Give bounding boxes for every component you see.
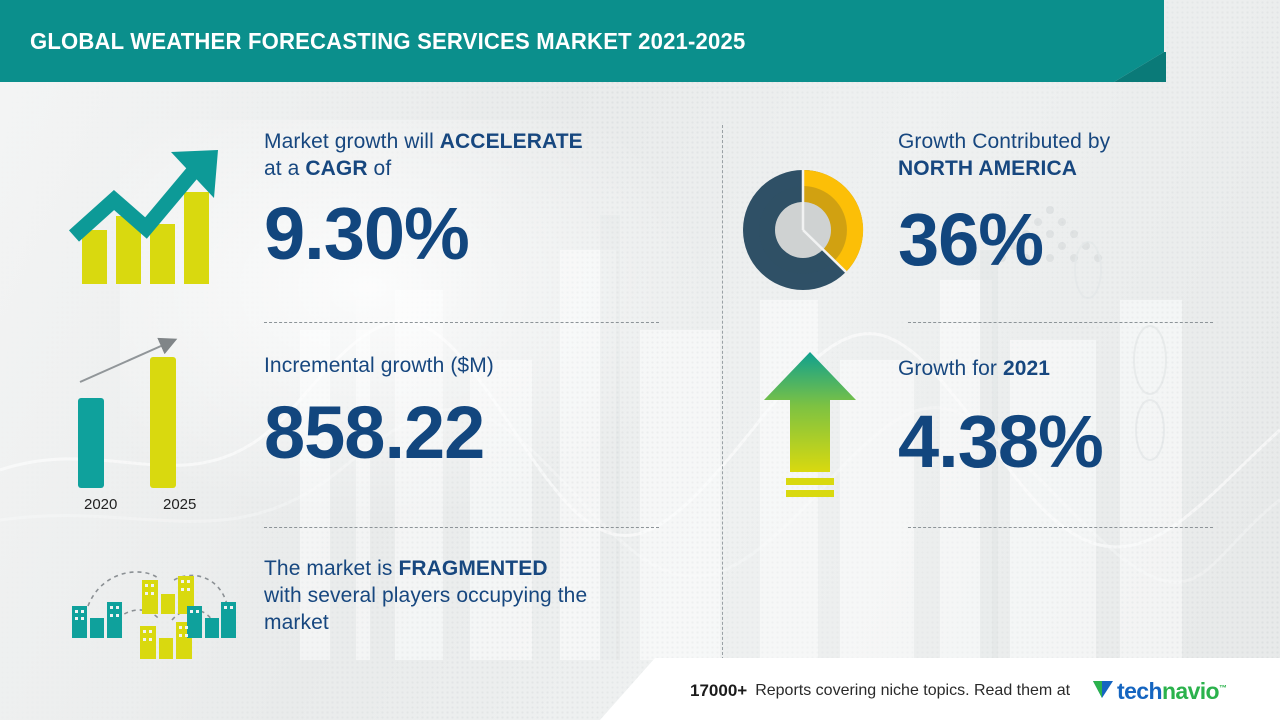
footer-report-count: 17000+ [690,681,747,701]
fragmentation-line1-pre: The market is [264,557,398,580]
cagr-label-line2-post: of [368,157,392,180]
cagr-label-line2-bold: CAGR [305,157,367,180]
cagr-block: Market growth will ACCELERATE at a CAGR … [264,128,664,272]
fragmentation-label: The market is FRAGMENTED with several pl… [264,555,684,636]
logo-trademark: ™ [1219,683,1226,692]
divider-left-1 [264,322,659,323]
yearly-growth-label-bold: 2021 [1003,357,1050,380]
page-title: GLOBAL WEATHER FORECASTING SERVICES MARK… [30,28,745,55]
yearly-growth-label: Growth for 2021 [898,355,1228,382]
cagr-label-line1-pre: Market growth will [264,130,440,153]
incremental-growth-label: Incremental growth ($M) [264,352,664,379]
region-label-pre: Growth Contributed by [898,130,1110,153]
logo-text-navio: navio [1162,678,1219,704]
infographic-page: GLOBAL WEATHER FORECASTING SERVICES MARK… [0,0,1280,720]
two-bar-growth-chart-icon [70,332,220,517]
footer-content: 17000+ Reports covering niche topics. Re… [690,674,1280,708]
logo-text-tech: tech [1117,678,1162,704]
donut-chart-icon [738,165,868,295]
fragmentation-block: The market is FRAGMENTED with several pl… [264,555,684,636]
technavio-wordmark: technavio™ [1117,678,1226,705]
incremental-growth-value: 858.22 [264,395,664,471]
divider-left-2 [264,527,659,528]
column-divider [722,125,723,660]
bar-label-2020: 2020 [84,496,117,513]
region-value: 36% [898,202,1228,278]
region-label: Growth Contributed by NORTH AMERICA [898,128,1228,182]
fragmentation-line3: market [264,611,329,634]
yearly-growth-label-pre: Growth for [898,357,1003,380]
cagr-label-line2-pre: at a [264,157,305,180]
footer-text: Reports covering niche topics. Read them… [755,682,1070,700]
divider-right-1 [908,322,1213,323]
divider-right-2 [908,527,1213,528]
technavio-mark-icon [1092,677,1114,706]
connected-city-buildings-icon [62,558,244,663]
region-label-bold: NORTH AMERICA [898,157,1077,180]
region-contribution-block: Growth Contributed by NORTH AMERICA 36% [898,128,1228,278]
fragmentation-line2: with several players occupying the [264,584,587,607]
cagr-value: 9.30% [264,196,664,272]
technavio-logo[interactable]: technavio™ [1092,677,1226,706]
incremental-growth-block: Incremental growth ($M) 858.22 [264,352,664,471]
bar-label-2025: 2025 [163,496,196,513]
yearly-growth-block: Growth for 2021 4.38% [898,355,1228,480]
yearly-growth-value: 4.38% [898,404,1228,480]
fragmentation-line1-bold: FRAGMENTED [398,557,547,580]
cagr-label-line1-bold: ACCELERATE [440,130,583,153]
cagr-label: Market growth will ACCELERATE at a CAGR … [264,128,664,182]
growth-arrow-chart-icon [68,142,228,297]
upward-arrow-icon [762,348,858,508]
